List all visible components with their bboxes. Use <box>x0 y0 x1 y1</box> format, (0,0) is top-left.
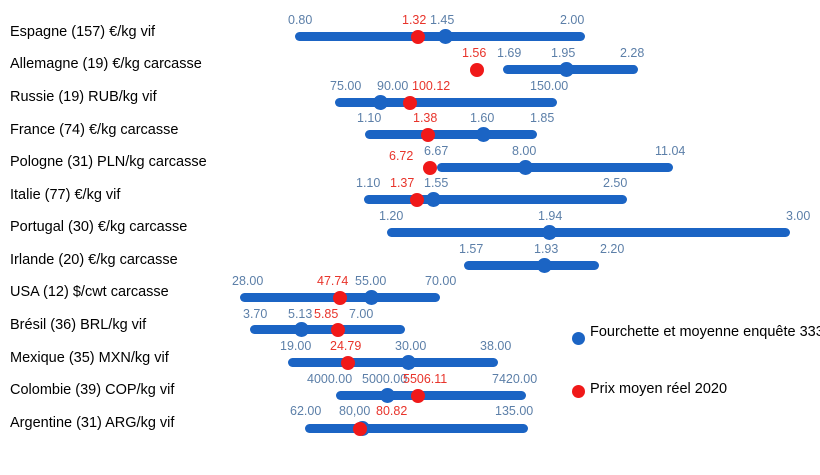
min-value-label: 75.00 <box>330 80 361 93</box>
real-price-dot <box>421 128 435 142</box>
real-price-label: 6.72 <box>389 150 413 163</box>
category-label: Irlande (20) €/kg carcasse <box>10 253 178 268</box>
category-label: Colombie (39) COP/kg vif <box>10 383 174 398</box>
real-price-label: 80.82 <box>376 405 407 418</box>
mean-value-label: 90.00 <box>377 80 408 93</box>
mean-dot <box>373 95 388 110</box>
mean-dot <box>518 160 533 175</box>
max-value-label: 2.20 <box>600 243 624 256</box>
min-value-label: 1.10 <box>357 112 381 125</box>
category-label: Mexique (35) MXN/kg vif <box>10 351 169 366</box>
mean-value-label: 80,00 <box>339 405 370 418</box>
range-bar <box>336 391 526 400</box>
mean-dot <box>559 62 574 77</box>
real-price-label: 1.38 <box>413 112 437 125</box>
legend-label: Fourchette et moyenne enquête 333 <box>590 324 820 340</box>
min-value-label: 4000.00 <box>307 373 352 386</box>
mean-dot <box>476 127 491 142</box>
mean-value-label: 55.00 <box>355 275 386 288</box>
real-price-dot <box>410 193 424 207</box>
range-bar <box>288 358 498 367</box>
legend-label: Prix moyen réel 2020 <box>590 381 820 397</box>
category-label: Russie (19) RUB/kg vif <box>10 90 157 105</box>
real-price-dot <box>423 161 437 175</box>
max-value-label: 11.04 <box>655 145 685 158</box>
real-price-label: 5506.11 <box>403 373 447 386</box>
min-value-label: 6.67 <box>424 145 448 158</box>
mean-dot <box>294 322 309 337</box>
mean-dot <box>401 355 416 370</box>
real-price-label: 24.79 <box>330 340 361 353</box>
mean-dot <box>426 192 441 207</box>
real-price-dot <box>470 63 484 77</box>
real-price-dot <box>353 422 367 436</box>
real-price-dot <box>333 291 347 305</box>
mean-value-label: 1.55 <box>424 177 448 190</box>
max-value-label: 3.00 <box>786 210 810 223</box>
real-price-label: 5.85 <box>314 308 338 321</box>
category-label: USA (12) $/cwt carcasse <box>10 285 169 300</box>
real-price-label: 47.74 <box>317 275 348 288</box>
max-value-label: 2.00 <box>560 14 584 27</box>
category-label: Italie (77) €/kg vif <box>10 188 120 203</box>
real-price-dot <box>403 96 417 110</box>
min-value-label: 62.00 <box>290 405 321 418</box>
category-label: Espagne (157) €/kg vif <box>10 25 155 40</box>
mean-dot <box>537 258 552 273</box>
mean-value-label: 1.94 <box>538 210 562 223</box>
max-value-label: 135.00 <box>495 405 533 418</box>
min-value-label: 1.57 <box>459 243 483 256</box>
max-value-label: 1.85 <box>530 112 554 125</box>
min-value-label: 1.69 <box>497 47 521 60</box>
mean-dot <box>438 29 453 44</box>
real-price-dot <box>411 389 425 403</box>
mean-value-label: 1.95 <box>551 47 575 60</box>
mean-dot <box>364 290 379 305</box>
real-price-dot <box>411 30 425 44</box>
category-label: Portugal (30) €/kg carcasse <box>10 220 187 235</box>
category-label: Argentine (31) ARG/kg vif <box>10 416 174 431</box>
max-value-label: 7.00 <box>349 308 373 321</box>
min-value-label: 1.10 <box>356 177 380 190</box>
real-price-label: 1.37 <box>390 177 414 190</box>
range-bar <box>364 195 627 204</box>
mean-value-label: 1.60 <box>470 112 494 125</box>
max-value-label: 2.28 <box>620 47 644 60</box>
min-value-label: 1.20 <box>379 210 403 223</box>
legend-marker-range <box>572 332 585 345</box>
min-value-label: 0.80 <box>288 14 312 27</box>
mean-value-label: 1.93 <box>534 243 558 256</box>
real-price-label: 1.56 <box>462 47 486 60</box>
min-value-label: 19.00 <box>280 340 311 353</box>
real-price-label: 1.32 <box>402 14 426 27</box>
category-label: Brésil (36) BRL/kg vif <box>10 318 146 333</box>
mean-value-label: 5000.00 <box>362 373 407 386</box>
category-label: Allemagne (19) €/kg carcasse <box>10 57 202 72</box>
max-value-label: 150.00 <box>530 80 568 93</box>
range-bar <box>365 130 537 139</box>
range-bar <box>335 98 557 107</box>
range-bar <box>437 163 673 172</box>
max-value-label: 38.00 <box>480 340 511 353</box>
mean-value-label: 1.45 <box>430 14 454 27</box>
range-bar <box>464 261 599 270</box>
min-value-label: 28.00 <box>232 275 263 288</box>
category-label: France (74) €/kg carcasse <box>10 123 178 138</box>
real-price-dot <box>331 323 345 337</box>
mean-value-label: 30.00 <box>395 340 426 353</box>
mean-value-label: 8.00 <box>512 145 536 158</box>
min-value-label: 3.70 <box>243 308 267 321</box>
real-price-dot <box>341 356 355 370</box>
max-value-label: 7420.00 <box>492 373 537 386</box>
mean-value-label: 5.13 <box>288 308 312 321</box>
real-price-label: 100.12 <box>412 80 450 93</box>
mean-dot <box>542 225 557 240</box>
mean-dot <box>380 388 395 403</box>
range-bar <box>250 325 405 334</box>
max-value-label: 2.50 <box>603 177 627 190</box>
category-label: Pologne (31) PLN/kg carcasse <box>10 155 207 170</box>
legend-marker-real-price <box>572 385 585 398</box>
range-bar <box>387 228 790 237</box>
range-dot-chart: Espagne (157) €/kg vif0.802.001.451.32Al… <box>0 0 820 475</box>
range-bar <box>305 424 528 433</box>
max-value-label: 70.00 <box>425 275 456 288</box>
